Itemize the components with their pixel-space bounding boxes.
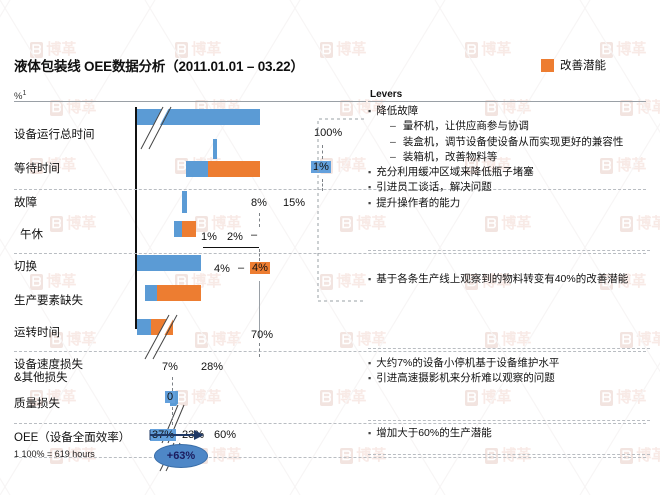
bullet-icon: ▪ xyxy=(368,272,371,287)
levers-divider-3 xyxy=(368,420,650,421)
levers-block-2: ▪基于各条生产线上观察到的物料转变有40%的改善潜能 xyxy=(368,272,650,287)
leader-tick-speed xyxy=(172,377,173,391)
lever-item: ▪提升操作者的能力 xyxy=(368,196,650,211)
lever-item: ▪降低故障 xyxy=(368,104,650,119)
lever-item: ▪大约7%的设备小停机基于设备维护水平 xyxy=(368,356,650,371)
legend-label-improvement-potential: 改善潜能 xyxy=(560,57,606,73)
levers-divider-1 xyxy=(368,250,650,251)
bullet-icon: ▪ xyxy=(368,356,371,371)
levers-divider-4 xyxy=(368,454,650,455)
value-label-dash-changeover: – xyxy=(238,262,244,274)
row-label-total-runtime: 设备运行总时间 xyxy=(14,129,95,142)
underline-lunch-group xyxy=(203,247,259,248)
value-label-70: 70% xyxy=(251,329,273,341)
levers-panel-title: Levers xyxy=(370,89,402,100)
bullet-icon: ▪ xyxy=(368,196,371,211)
bar-waiting-time xyxy=(186,161,260,177)
bar-breakdown xyxy=(182,191,187,213)
chart-header-rule xyxy=(14,101,366,102)
divider-before-oee xyxy=(14,423,646,424)
levers-block-1: ▪降低故障 –量杯机，让供应商参与协调 –装盒机，调节设备使设备从而实现更好的兼… xyxy=(368,104,650,211)
levers-divider-2 xyxy=(368,348,650,349)
bullet-icon: ▪ xyxy=(368,180,371,195)
bullet-icon: ▪ xyxy=(368,371,371,386)
slide-canvas: 液体包装线 OEE数据分析（2011.01.01 – 03.22） 改善潜能 %… xyxy=(0,0,660,495)
bar-lunch-break xyxy=(174,221,196,237)
leader-tick-70 xyxy=(259,343,260,357)
leader-tick-quality xyxy=(172,407,173,425)
lever-subitem: –装箱机，改善物料等 xyxy=(368,150,650,165)
row-label-material-shortage: 生产要素缺失 xyxy=(14,295,83,308)
levers-block-4: ▪增加大于60%的生产潜能 xyxy=(368,426,650,441)
dash-icon: – xyxy=(390,119,396,134)
row-label-breakdown: 故障 xyxy=(14,197,37,210)
row-label-quality-loss: 质量损失 xyxy=(14,398,60,411)
lever-item: ▪引进高速摄影机来分析难以观察的问题 xyxy=(368,371,650,386)
divider-after-oee xyxy=(14,457,646,458)
row-label-lunch-break: 午休 xyxy=(20,229,43,242)
bar-total-runtime xyxy=(137,109,260,125)
lever-subitem: –装盒机，调节设备使设备从而实现更好的兼容性 xyxy=(368,135,650,150)
bar-waiting-connector xyxy=(213,139,217,159)
value-label-60: 60% xyxy=(214,429,236,441)
lever-item: ▪增加大于60%的生产潜能 xyxy=(368,426,650,441)
levers-block-3: ▪大约7%的设备小停机基于设备维护水平 ▪引进高速摄影机来分析难以观察的问题 xyxy=(368,356,650,387)
value-label-1: 1% xyxy=(201,231,217,243)
bar-changeover xyxy=(137,255,201,271)
waterfall-chart: 设备运行总时间 等待时间 故障 午休 切换 生产要素缺失 运转时间 设备速度损失… xyxy=(14,103,366,433)
value-label-dash-lunch: – xyxy=(251,229,257,241)
lever-subitem: –量杯机，让供应商参与协调 xyxy=(368,119,650,134)
bullet-icon: ▪ xyxy=(368,426,371,441)
bullet-icon: ▪ xyxy=(368,104,371,119)
row-label-waiting-time: 等待时间 xyxy=(14,163,60,176)
levers-header-rule xyxy=(368,101,646,102)
lever-item: ▪充分利用缓冲区域来降低瓶子堵塞 xyxy=(368,165,650,180)
legend: 改善潜能 xyxy=(541,57,606,73)
value-label-28: 28% xyxy=(201,361,223,373)
callout-connector xyxy=(260,117,366,303)
improvement-arrow xyxy=(148,430,204,440)
value-label-4: 4% xyxy=(214,263,230,275)
bar-operating-time xyxy=(137,319,173,335)
bar-material-shortage xyxy=(145,285,201,301)
legend-swatch-improvement-potential xyxy=(541,59,554,72)
divider-after-operating xyxy=(14,351,646,352)
value-label-zero: 0 xyxy=(165,391,175,403)
improvement-badge: +63% xyxy=(154,444,208,468)
slide-header: 液体包装线 OEE数据分析（2011.01.01 – 03.22） 改善潜能 xyxy=(14,55,646,79)
row-label-oee: OEE（设备全面效率） xyxy=(14,432,130,445)
dash-icon: – xyxy=(390,135,396,150)
row-label-changeover: 切换 xyxy=(14,261,37,274)
value-label-2: 2% xyxy=(227,231,243,243)
dash-icon: – xyxy=(390,150,396,165)
value-label-7: 7% xyxy=(162,361,178,373)
row-label-speed-loss: 设备速度损失&其他损失 xyxy=(14,359,83,385)
chart-footnote: 1 100% = 619 hours xyxy=(14,449,95,459)
bullet-icon: ▪ xyxy=(368,165,371,180)
lever-item: ▪基于各条生产线上观察到的物料转变有40%的改善潜能 xyxy=(368,272,650,287)
row-label-operating-time: 运转时间 xyxy=(14,327,60,340)
lever-item: ▪引进员工谈话，解决问题 xyxy=(368,180,650,195)
chart-axis-line xyxy=(135,107,137,329)
